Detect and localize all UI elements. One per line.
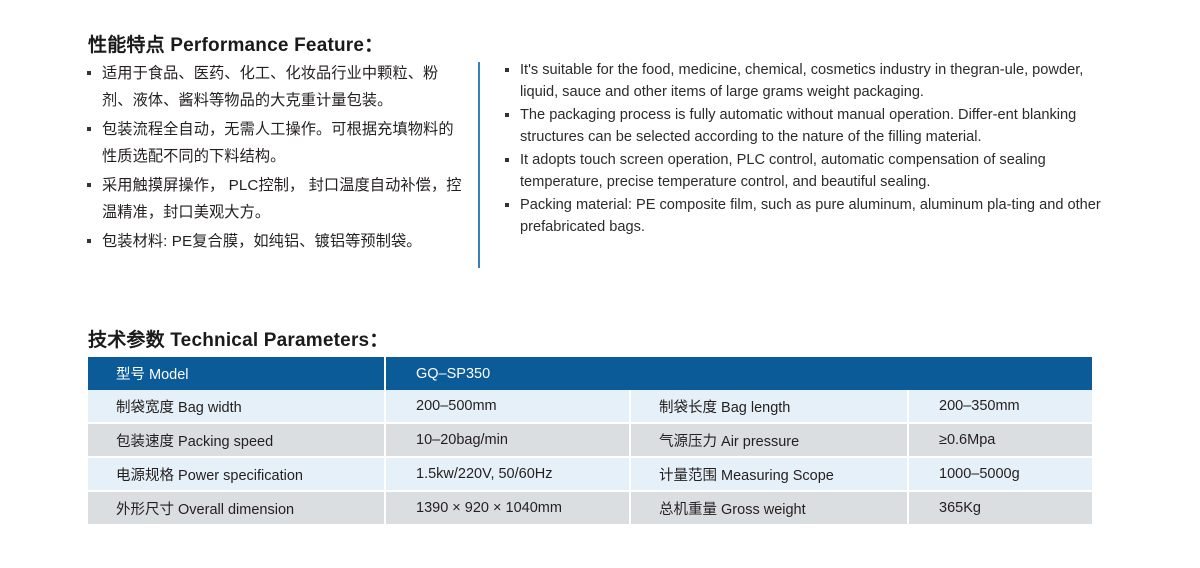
cell-text: 计量范围 Measuring Scope <box>631 464 907 485</box>
row-left-value: 10–20bag/min <box>385 423 630 457</box>
square-bullet-icon <box>505 68 509 72</box>
list-item-text: 包装材料: PE复合膜，如纯铝、镀铝等预制袋。 <box>102 233 422 250</box>
row-right-label: 总机重量 Gross weight <box>630 491 908 524</box>
row-left-value: 200–500mm <box>385 390 630 423</box>
cell-text: 制袋长度 Bag length <box>631 396 907 417</box>
row-right-value: 365Kg <box>908 491 1092 524</box>
cell-text: 外形尺寸 Overall dimension <box>88 498 384 519</box>
square-bullet-icon <box>505 203 509 207</box>
header-model-label: 型号 Model <box>88 363 384 384</box>
cell-text: 1000–5000g <box>909 466 1092 482</box>
row-left-label: 电源规格 Power specification <box>88 457 385 491</box>
column-divider <box>478 62 480 268</box>
row-left-value: 1.5kw/220V, 50/60Hz <box>385 457 630 491</box>
list-item-text: 采用触摸屏操作， PLC控制， 封口温度自动补偿，控温精准，封口美观大方。 <box>102 177 462 221</box>
row-right-label: 计量范围 Measuring Scope <box>630 457 908 491</box>
row-right-value: ≥0.6Mpa <box>908 423 1092 457</box>
square-bullet-icon <box>87 71 91 75</box>
row-right-label: 制袋长度 Bag length <box>630 390 908 423</box>
square-bullet-icon <box>505 113 509 117</box>
cell-text: 电源规格 Power specification <box>88 464 384 485</box>
list-item-text: Packing material: PE composite film, suc… <box>520 197 1101 235</box>
list-item-text: The packaging process is fully automatic… <box>520 107 1076 145</box>
chinese-feature-column: 适用于食品、医药、化工、化妆品行业中颗粒、粉剂、液体、酱料等物品的大克重计量包装… <box>86 60 466 257</box>
chinese-feature-list: 适用于食品、医药、化工、化妆品行业中颗粒、粉剂、液体、酱料等物品的大克重计量包装… <box>86 60 466 255</box>
square-bullet-icon <box>87 127 91 131</box>
list-item-text: 包装流程全自动，无需人工操作。可根据充填物料的性质选配不同的下料结构。 <box>102 121 454 165</box>
cell-text: 1.5kw/220V, 50/60Hz <box>386 466 629 482</box>
cell-text: ≥0.6Mpa <box>909 432 1092 448</box>
english-feature-column: It's suitable for the food, medicine, ch… <box>504 60 1116 240</box>
feature-block: 适用于食品、医药、化工、化妆品行业中颗粒、粉剂、液体、酱料等物品的大克重计量包装… <box>86 60 1116 275</box>
cell-text: 365Kg <box>909 500 1092 516</box>
row-left-label: 包装速度 Packing speed <box>88 423 385 457</box>
row-left-value: 1390 × 920 × 1040mm <box>385 491 630 524</box>
header-model-value: GQ–SP350 <box>386 366 1092 382</box>
header-cell-model-value: GQ–SP350 <box>385 357 1092 390</box>
list-item: Packing material: PE composite film, suc… <box>504 195 1116 238</box>
cell-text: 200–500mm <box>386 398 629 414</box>
list-item: The packaging process is fully automatic… <box>504 105 1116 148</box>
list-item-text: 适用于食品、医药、化工、化妆品行业中颗粒、粉剂、液体、酱料等物品的大克重计量包装… <box>102 65 438 109</box>
list-item-text: It adopts touch screen operation, PLC co… <box>520 152 1046 190</box>
specification-table: 型号 Model GQ–SP350 制袋宽度 Bag width 200–500… <box>88 357 1092 524</box>
row-left-label: 外形尺寸 Overall dimension <box>88 491 385 524</box>
cell-text: 制袋宽度 Bag width <box>88 396 384 417</box>
list-item: 包装流程全自动，无需人工操作。可根据充填物料的性质选配不同的下料结构。 <box>86 116 466 170</box>
row-right-label: 气源压力 Air pressure <box>630 423 908 457</box>
table-body: 制袋宽度 Bag width 200–500mm 制袋长度 Bag length… <box>88 390 1092 524</box>
performance-feature-title: 性能特点 Performance Feature： <box>88 30 383 57</box>
row-right-value: 200–350mm <box>908 390 1092 423</box>
cell-text: 气源压力 Air pressure <box>631 430 907 451</box>
table-row: 电源规格 Power specification 1.5kw/220V, 50/… <box>88 457 1092 491</box>
table-header: 型号 Model GQ–SP350 <box>88 357 1092 390</box>
square-bullet-icon <box>87 183 91 187</box>
list-item: It's suitable for the food, medicine, ch… <box>504 60 1116 103</box>
row-left-label: 制袋宽度 Bag width <box>88 390 385 423</box>
list-item-text: It's suitable for the food, medicine, ch… <box>520 62 1083 100</box>
technical-parameters-title: 技术参数 Technical Parameters： <box>88 325 389 352</box>
cell-text: 总机重量 Gross weight <box>631 498 907 519</box>
table-header-row: 型号 Model GQ–SP350 <box>88 357 1092 390</box>
list-item: 适用于食品、医药、化工、化妆品行业中颗粒、粉剂、液体、酱料等物品的大克重计量包装… <box>86 60 466 114</box>
list-item: It adopts touch screen operation, PLC co… <box>504 150 1116 193</box>
cell-text: 200–350mm <box>909 398 1092 414</box>
english-feature-list: It's suitable for the food, medicine, ch… <box>504 60 1116 238</box>
cell-text: 1390 × 920 × 1040mm <box>386 500 629 516</box>
cell-text: 10–20bag/min <box>386 432 629 448</box>
cell-text: 包装速度 Packing speed <box>88 430 384 451</box>
list-item: 采用触摸屏操作， PLC控制， 封口温度自动补偿，控温精准，封口美观大方。 <box>86 172 466 226</box>
table-row: 外形尺寸 Overall dimension 1390 × 920 × 1040… <box>88 491 1092 524</box>
table-row: 制袋宽度 Bag width 200–500mm 制袋长度 Bag length… <box>88 390 1092 423</box>
table-row: 包装速度 Packing speed 10–20bag/min 气源压力 Air… <box>88 423 1092 457</box>
list-item: 包装材料: PE复合膜，如纯铝、镀铝等预制袋。 <box>86 228 466 255</box>
square-bullet-icon <box>505 158 509 162</box>
square-bullet-icon <box>87 239 91 243</box>
row-right-value: 1000–5000g <box>908 457 1092 491</box>
header-cell-model-label: 型号 Model <box>88 357 385 390</box>
